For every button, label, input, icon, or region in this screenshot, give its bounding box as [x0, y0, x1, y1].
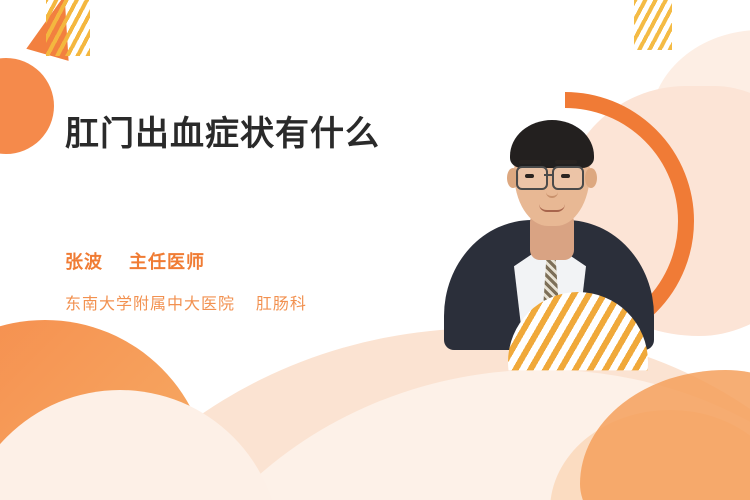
yellow-stripes-top-left-decoration — [46, 0, 90, 56]
portrait-eyebrow-left — [519, 160, 541, 164]
portrait-ear-right — [585, 168, 597, 188]
health-article-cover-card: 肛门出血症状有什么 张波 主任医师 东南大学附属中大医院 肛肠科 — [0, 0, 750, 500]
portrait-eyebrow-right — [555, 160, 577, 164]
yellow-stripes-top-right-decoration — [634, 0, 672, 50]
portrait-glasses-left-lens — [516, 166, 548, 190]
doctor-portrait-image — [436, 92, 662, 342]
hospital-name: 东南大学附属中大医院 — [65, 296, 235, 313]
orange-wedge-bottom-left-decoration — [0, 320, 210, 500]
orange-triangle-decoration — [26, 0, 85, 61]
light-wedge-bottom-left-decoration — [0, 390, 280, 500]
orange-blob-bottom-right-decoration — [580, 370, 750, 500]
doctor-credential-line: 张波 主任医师 — [65, 248, 205, 274]
department-name: 肛肠科 — [256, 296, 307, 313]
affiliation-line: 东南大学附属中大医院 肛肠科 — [65, 290, 307, 314]
light-peach-curve-bottom-decoration — [111, 349, 750, 500]
light-blob-bottom-right-decoration — [550, 410, 750, 500]
portrait-glasses-bridge — [544, 174, 552, 176]
portrait-mouth — [539, 204, 565, 212]
doctor-title: 主任医师 — [129, 252, 205, 272]
portrait-nose — [546, 182, 558, 198]
portrait-eye-left — [525, 174, 534, 178]
portrait-eye-right — [561, 174, 570, 178]
orange-circle-decoration — [0, 58, 54, 154]
peach-blob-upper-right-decoration — [650, 30, 750, 220]
doctor-name: 张波 — [65, 252, 103, 272]
article-title: 肛门出血症状有什么 — [65, 112, 415, 157]
